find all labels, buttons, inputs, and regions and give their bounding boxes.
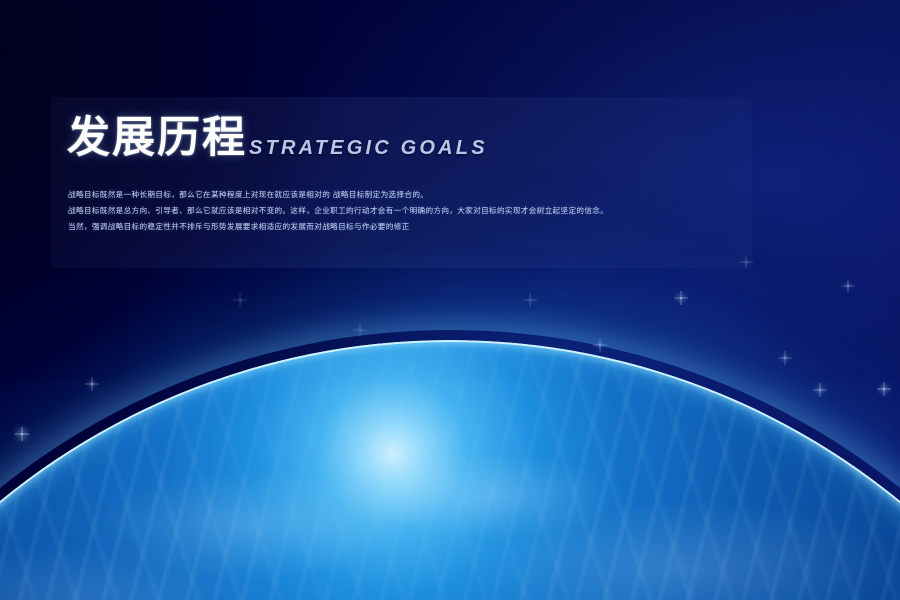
paragraph-line: 战略目标既然是总方向、引导者、那么它就应该是相对不变的。这样，企业职工的行动才会… [68,203,768,219]
paragraph-line: 当然，强调战略目标的稳定性并不排斥与形势发展要求相适应的发展而对战略目标与作必要… [68,219,768,235]
paragraph-line: 战略目标既然是一种长期目标，那么它在某种程度上对现在就应该是相对的 战略目标制定… [68,187,768,203]
banner-stage: 发展历程 STRATEGIC GOALS 战略目标既然是一种长期目标，那么它在某… [0,0,900,600]
page-title: 发展历程 [67,117,247,160]
page-subtitle: STRATEGIC GOALS [249,138,488,160]
banner-heading: 发展历程 STRATEGIC GOALS [67,117,488,160]
banner-paragraph: 战略目标既然是一种长期目标，那么它在某种程度上对现在就应该是相对的 战略目标制定… [68,187,768,235]
